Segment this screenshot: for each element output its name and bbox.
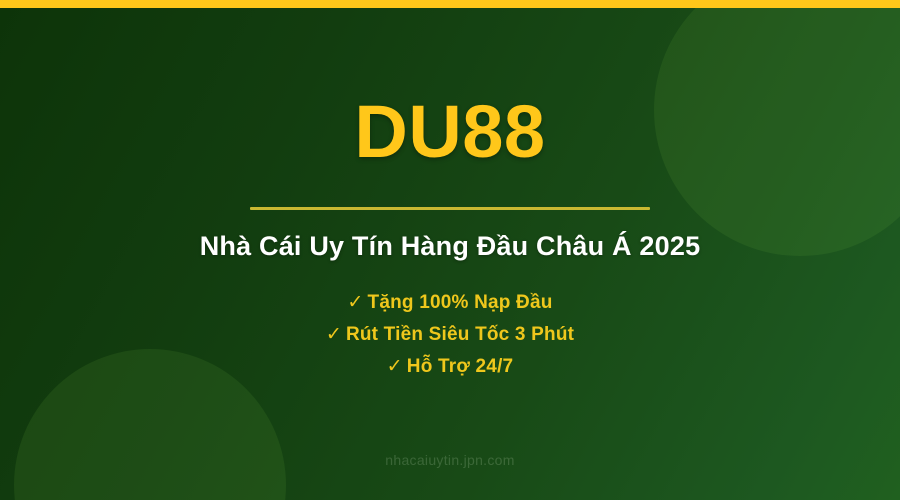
feature-label: Hỗ Trợ 24/7 bbox=[407, 356, 514, 377]
promo-banner: DU88 Nhà Cái Uy Tín Hàng Đầu Châu Á 2025… bbox=[0, 0, 900, 500]
check-icon: ✓ bbox=[387, 356, 403, 377]
feature-item: ✓Tặng 100% Nạp Đầu bbox=[347, 291, 552, 314]
banner-subtitle: Nhà Cái Uy Tín Hàng Đầu Châu Á 2025 bbox=[200, 231, 701, 262]
feature-label: Rút Tiền Siêu Tốc 3 Phút bbox=[346, 324, 574, 345]
feature-item: ✓Hỗ Trợ 24/7 bbox=[387, 355, 514, 378]
check-icon: ✓ bbox=[326, 324, 342, 345]
brand-title: DU88 bbox=[354, 95, 545, 169]
check-icon: ✓ bbox=[347, 292, 363, 313]
feature-label: Tặng 100% Nạp Đầu bbox=[368, 292, 553, 313]
feature-item: ✓Rút Tiền Siêu Tốc 3 Phút bbox=[326, 323, 574, 346]
banner-content: DU88 Nhà Cái Uy Tín Hàng Đầu Châu Á 2025… bbox=[0, 0, 900, 500]
title-divider bbox=[250, 207, 650, 210]
top-accent-bar bbox=[0, 0, 900, 8]
feature-list: ✓Tặng 100% Nạp Đầu ✓Rút Tiền Siêu Tốc 3 … bbox=[326, 291, 574, 378]
